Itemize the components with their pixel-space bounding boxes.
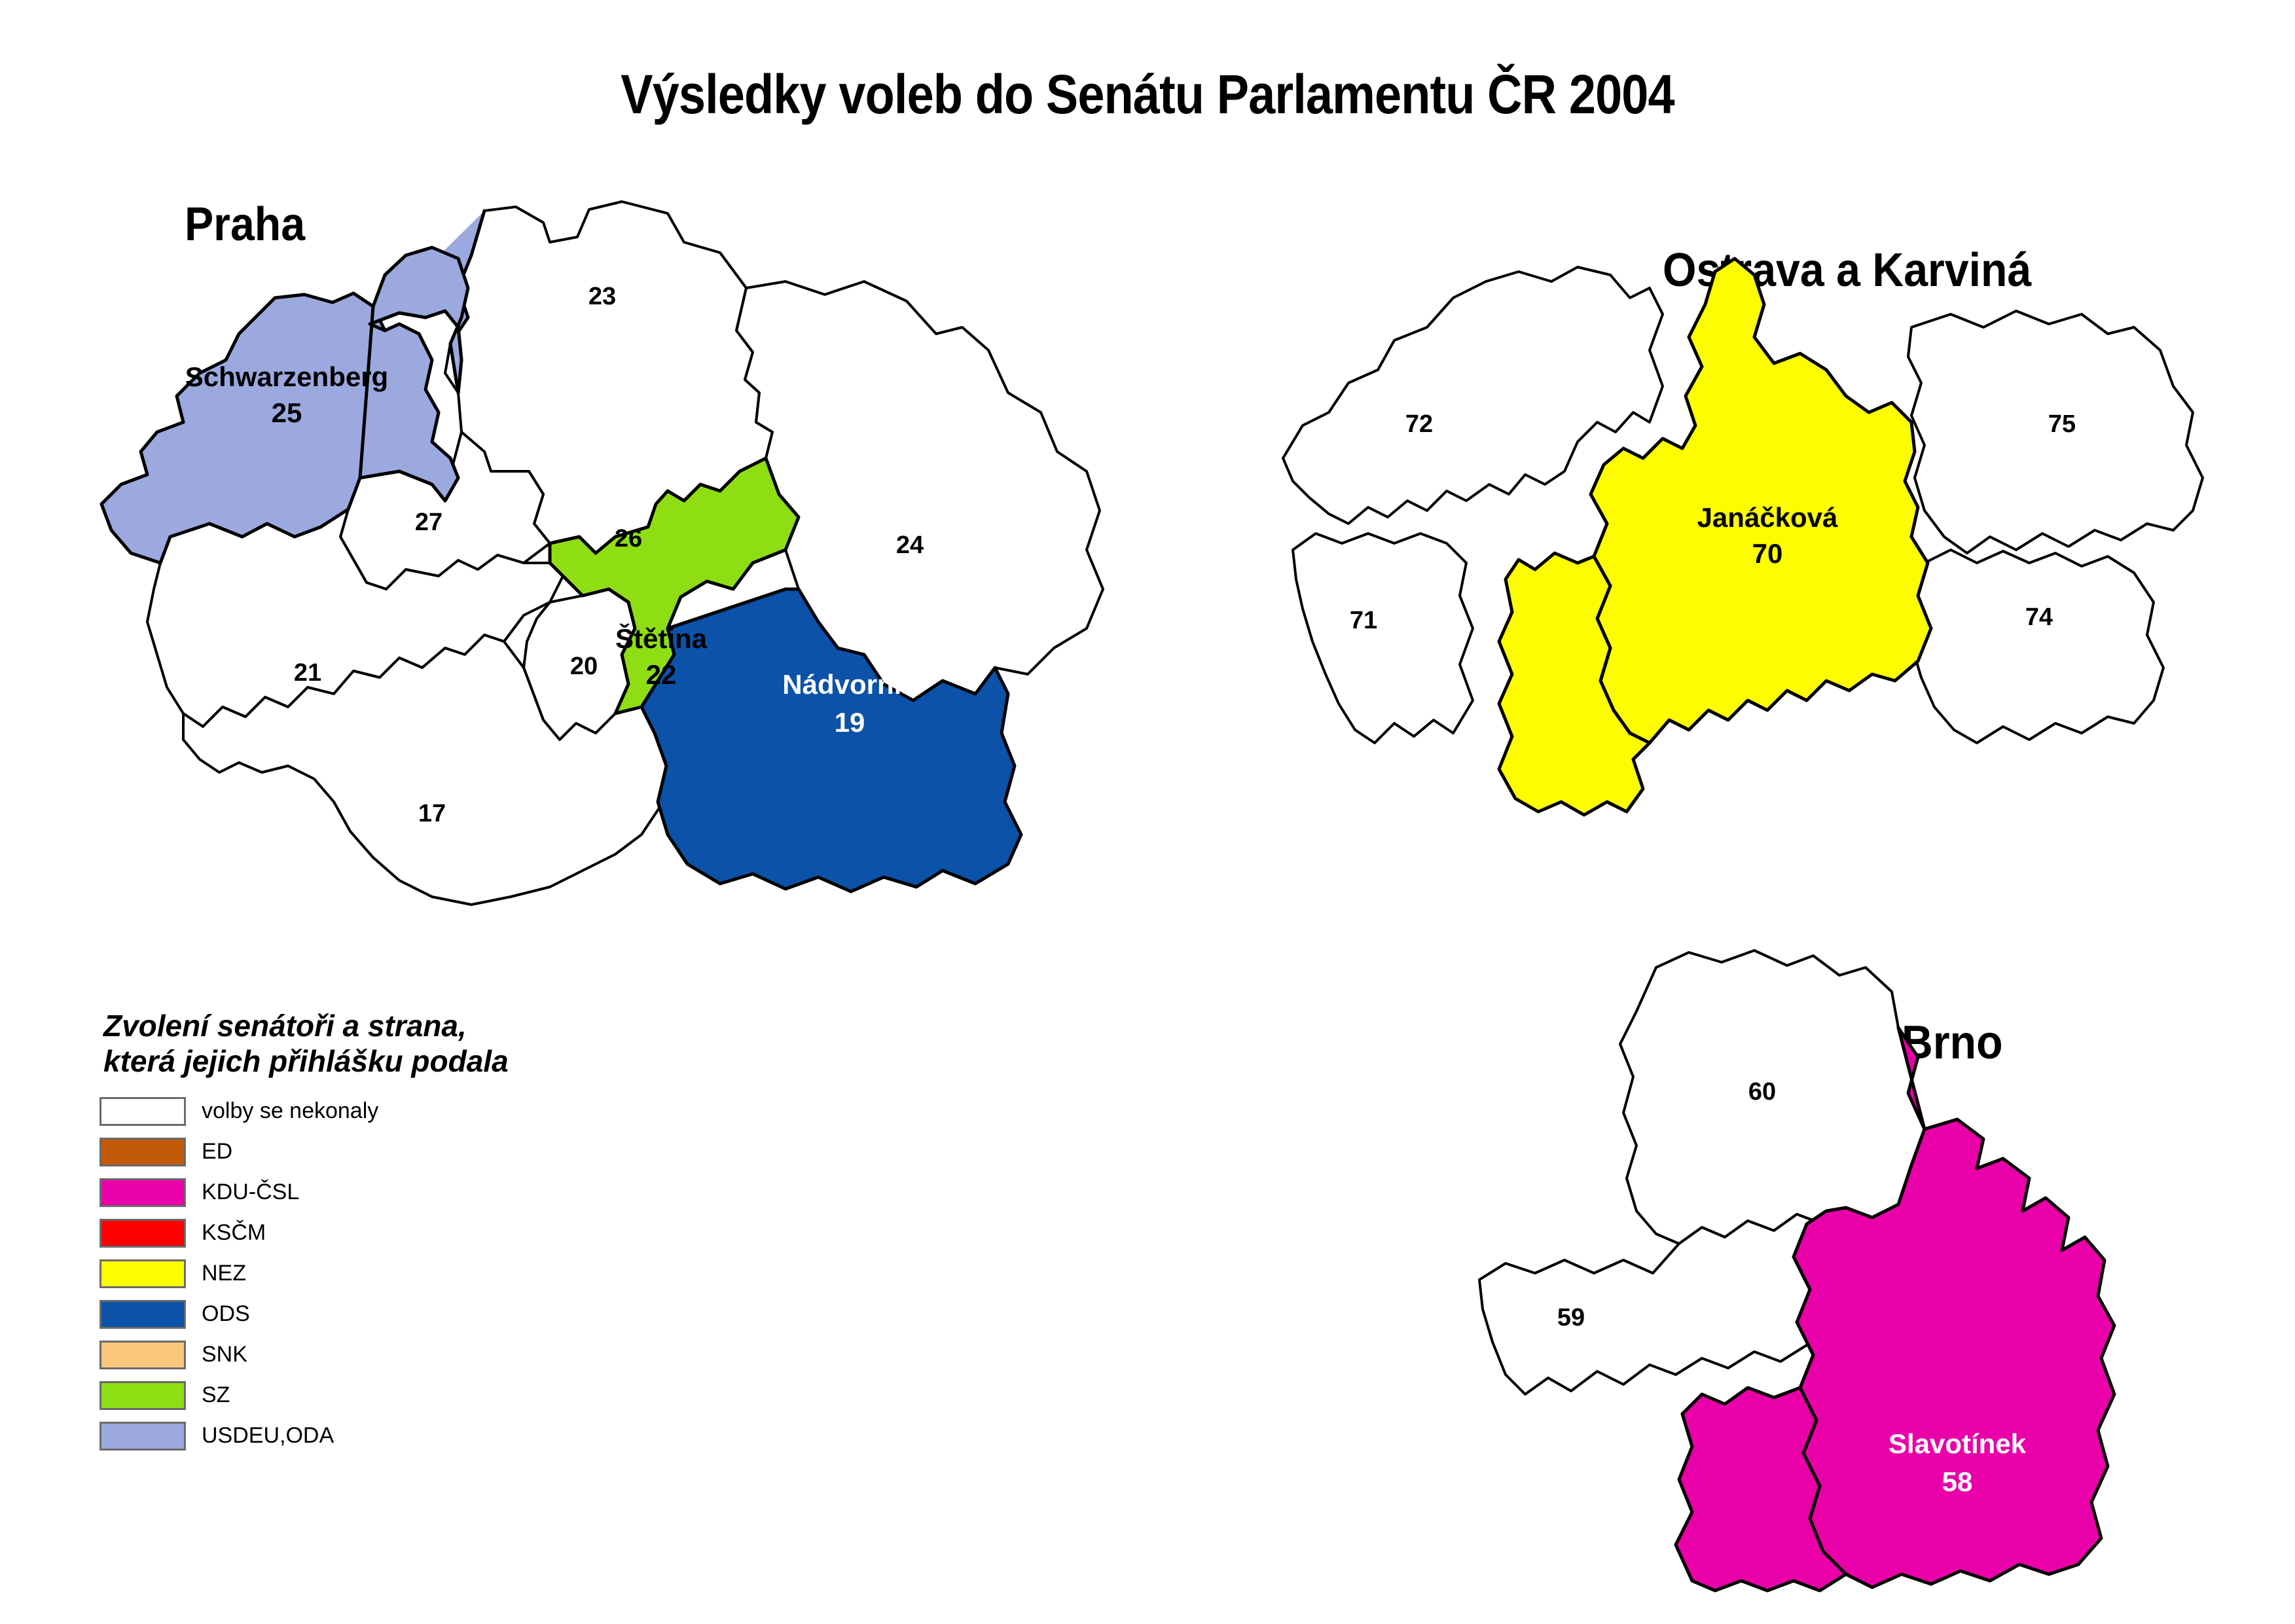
winner-number-70: 70 — [1752, 538, 1783, 569]
winner-name-22: Štětina — [615, 623, 708, 654]
district-label-24: 24 — [896, 532, 924, 559]
winner-name-58: Slavotínek — [1888, 1428, 2027, 1459]
winner-number-58: 58 — [1942, 1466, 1973, 1497]
legend-item-usdeu-oda[interactable]: USDEU,ODA — [99, 1416, 623, 1456]
legend-item-snk[interactable]: SNK — [99, 1335, 623, 1375]
district-label-72: 72 — [1405, 410, 1433, 438]
map-brno: 60 59 Slavotínek 58 — [1440, 936, 2180, 1604]
legend-item-list: volby se nekonaly ED KDU-ČSL KSČM NEZ OD… — [99, 1091, 623, 1456]
legend-swatch-ods — [99, 1300, 186, 1329]
district-label-60: 60 — [1748, 1078, 1776, 1106]
district-shape-74[interactable] — [1908, 550, 2163, 743]
legend-swatch-nez — [99, 1259, 186, 1288]
winner-name-70: Janáčková — [1697, 502, 1838, 533]
district-label-17: 17 — [418, 800, 446, 827]
legend-swatch-kscm — [99, 1219, 186, 1248]
legend-swatch-snk — [99, 1341, 186, 1369]
legend-swatch-usdeu-oda — [99, 1422, 186, 1451]
district-shape-71[interactable] — [1293, 533, 1473, 743]
district-label-23: 23 — [588, 283, 616, 310]
legend-swatch-volby-se-nekonaly — [99, 1097, 186, 1126]
legend-label-ods: ODS — [202, 1301, 250, 1327]
legend-label-kscm: KSČM — [202, 1220, 266, 1246]
legend-label-ed: ED — [202, 1139, 232, 1164]
page-title: Výsledky voleb do Senátu Parlamentu ČR 2… — [137, 63, 2157, 126]
legend-swatch-kdu-csl — [99, 1178, 186, 1207]
legend-item-nez[interactable]: NEZ — [99, 1254, 623, 1294]
legend: Zvolení senátoři a strana, která jejich … — [99, 1008, 623, 1456]
legend-item-kscm[interactable]: KSČM — [99, 1213, 623, 1254]
legend-label-volby-se-nekonaly: volby se nekonaly — [202, 1098, 378, 1124]
district-label-20: 20 — [570, 653, 598, 680]
map-ostrava: 72 71 75 74 Janáčková 70 — [1257, 236, 2239, 910]
map-praha: 23 27 26 24 21 20 17 Schwarzenberg 25 Št… — [92, 196, 1204, 923]
legend-title: Zvolení senátoři a strana, která jejich … — [99, 1008, 623, 1079]
district-label-75: 75 — [2048, 410, 2076, 438]
winner-name-19: Nádvorník — [782, 669, 917, 700]
legend-item-volby-se-nekonaly[interactable]: volby se nekonaly — [99, 1091, 623, 1132]
legend-label-usdeu-oda: USDEU,ODA — [202, 1423, 334, 1449]
legend-item-sz[interactable]: SZ — [99, 1375, 623, 1416]
winner-number-22: 22 — [646, 659, 677, 690]
legend-label-nez: NEZ — [202, 1261, 246, 1286]
district-label-71: 71 — [1350, 607, 1377, 634]
district-label-74: 74 — [2025, 604, 2053, 631]
district-label-27: 27 — [415, 509, 443, 536]
legend-swatch-sz — [99, 1381, 186, 1410]
winner-number-25: 25 — [272, 397, 302, 428]
legend-item-ods[interactable]: ODS — [99, 1294, 623, 1335]
legend-label-kdu-csl: KDU-ČSL — [202, 1180, 299, 1205]
legend-label-snk: SNK — [202, 1342, 247, 1367]
district-label-26: 26 — [615, 525, 642, 552]
winner-number-19: 19 — [835, 707, 865, 738]
legend-item-ed[interactable]: ED — [99, 1132, 623, 1172]
legend-swatch-ed — [99, 1138, 186, 1166]
winner-name-25: Schwarzenberg — [185, 361, 388, 392]
district-label-21: 21 — [294, 659, 321, 687]
legend-item-kdu-csl[interactable]: KDU-ČSL — [99, 1172, 623, 1213]
legend-label-sz: SZ — [202, 1382, 230, 1408]
district-label-59: 59 — [1557, 1304, 1585, 1331]
